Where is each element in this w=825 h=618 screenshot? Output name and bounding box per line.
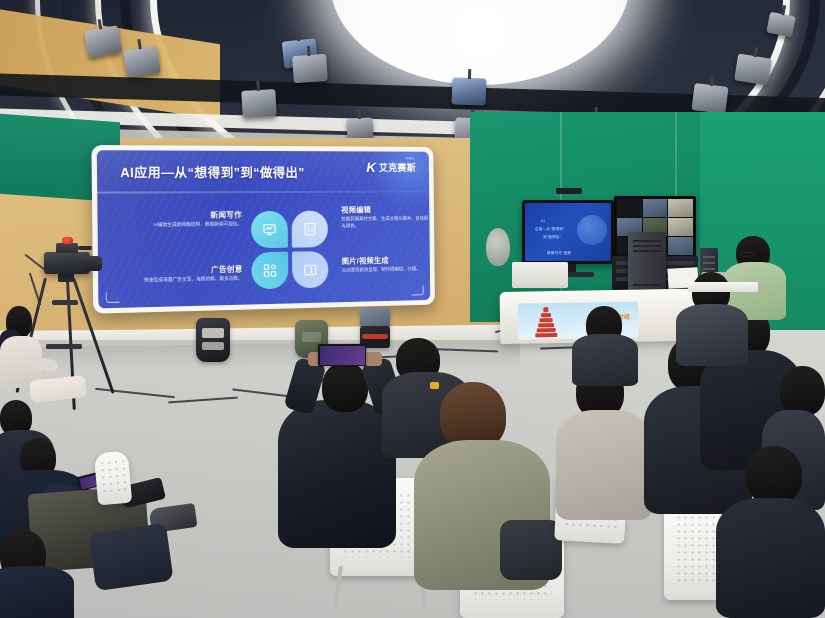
- back-table: [688, 282, 758, 292]
- attendee-head: [322, 362, 368, 412]
- monitor-top-camera: [556, 188, 582, 194]
- pagoda-icon: [534, 307, 559, 337]
- attendee-head: [780, 366, 825, 416]
- building-chart-icon: [302, 222, 317, 237]
- quadrant-desc: AI辅助生成新闻稿结构、数据新闻可视化。: [133, 220, 242, 228]
- quadrant-news-writing: 新闻写作 AI辅助生成新闻稿结构、数据新闻可视化。: [133, 209, 242, 228]
- logo-subtext: AXES: [406, 156, 415, 160]
- program-monitor: AI 应用—从"想得到" 到"做得出" 新闻写作 视频: [522, 200, 614, 264]
- slide-corner-glow: [368, 150, 430, 210]
- studio-softbox-light: [486, 228, 510, 266]
- studio-spotlight: [452, 77, 487, 105]
- tripod-collar: [46, 344, 82, 349]
- equipment-case-top: [360, 308, 390, 328]
- grid-settings-icon: [262, 263, 277, 278]
- attendee-hand-right: [364, 352, 382, 366]
- petal-video-editing: [292, 211, 329, 248]
- studio-spotlight: [241, 89, 276, 118]
- petal-diagram: [251, 211, 331, 292]
- backpack-black: [196, 318, 230, 362]
- equipment-case-stripe: [362, 334, 388, 339]
- attendee-torso: [716, 498, 825, 618]
- glasses-icon: [740, 252, 754, 257]
- monitor-graphic-circle: [577, 215, 607, 245]
- phone-screen: [320, 346, 365, 365]
- studio-spotlight: [734, 54, 772, 86]
- quadrant-image-video-generation: 图片/视频生成 从创意到新效呈现、制作周期短、分镜。: [342, 254, 429, 273]
- logo-company-name: 艾克赛斯: [379, 160, 416, 174]
- quadrant-video-editing: 视频编辑 智能剪辑素材文稿、生成分镜头脚本、自动配光调色。: [341, 204, 428, 229]
- attendee-leg: [88, 523, 173, 591]
- slide-corner-bracket-right: [411, 285, 423, 295]
- quadrant-ad-creative: 广告创意 快速生成海量广告文案、海报初稿、跟多员数。: [125, 263, 242, 284]
- chair[interactable]: [94, 451, 132, 506]
- petal-image-video-generation: [292, 251, 329, 288]
- backpack-flap: [302, 332, 321, 342]
- studio-spotlight: [347, 118, 374, 140]
- studio-presentation-photo: AI应用—从“想得到”到“做得出” K 艾克赛斯 AXES: [0, 0, 825, 618]
- phone-camera[interactable]: [318, 344, 366, 366]
- attendee-arm: [500, 520, 562, 580]
- studio-spotlight: [292, 54, 328, 83]
- petal-ad-creative: [251, 252, 288, 290]
- attendee-head: [746, 446, 802, 504]
- camera-viewfinder: [56, 243, 78, 253]
- brand-logo: K 艾克赛斯 AXES: [366, 160, 416, 174]
- presentation-screen-frame: AI应用—从“想得到”到“做得出” K 艾克赛斯 AXES: [91, 145, 435, 314]
- camera-tally-light: [62, 237, 73, 244]
- attendee-torso: [572, 334, 638, 386]
- desk-shelf-unit: [512, 262, 568, 288]
- monitor-screen: AI 应用—从"想得到" 到"做得出" 新闻写作 视频: [525, 203, 611, 261]
- attendee-torso: [676, 304, 748, 366]
- slide-corner-bracket-left: [106, 292, 120, 303]
- studio-spotlight: [691, 83, 728, 114]
- petal-news-writing: [251, 211, 288, 248]
- slide-title: AI应用—从“想得到”到“做得出”: [120, 162, 305, 182]
- camera-lens: [84, 256, 102, 271]
- studio-spotlight: [123, 46, 160, 77]
- quadrant-desc: 智能剪辑素材文稿、生成分镜头脚本、自动配光调色。: [341, 215, 428, 230]
- quadrant-desc: 从创意到新效呈现、制作周期短、分镜。: [342, 265, 429, 274]
- backpack-pocket: [202, 342, 224, 350]
- quadrant-desc: 快速生成海量广告文案、海报初稿、跟多员数。: [126, 275, 243, 285]
- tripod-collar: [52, 300, 78, 305]
- logo-k-mark: K: [366, 160, 376, 174]
- attendee-torso: [0, 566, 74, 618]
- presentation-slide: AI应用—从“想得到”到“做得出” K 艾克赛斯 AXES: [97, 150, 430, 308]
- image-frame-icon: [303, 262, 318, 277]
- attendee-torso: [556, 410, 652, 520]
- chart-monitor-icon: [262, 222, 277, 237]
- attendee-torso: [278, 400, 396, 548]
- jacket-logo: [430, 382, 439, 389]
- camera-microphone: [78, 246, 92, 250]
- backpack-tag: [202, 328, 224, 338]
- quadrant-title: 视频编辑: [341, 204, 428, 215]
